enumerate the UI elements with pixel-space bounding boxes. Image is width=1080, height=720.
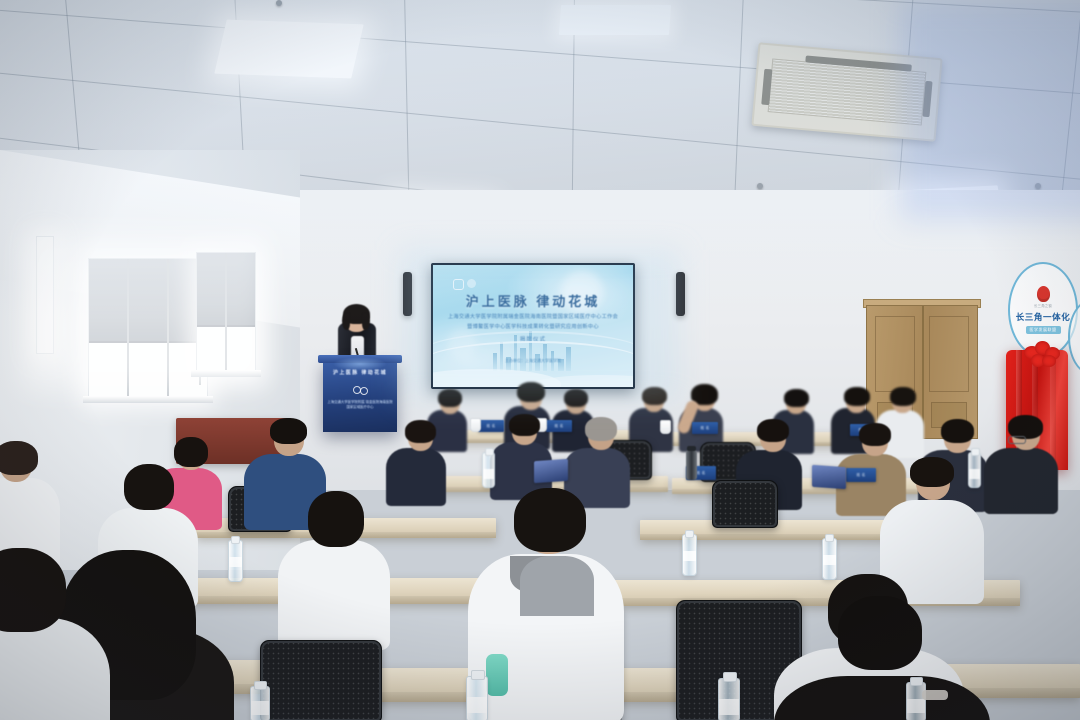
- red-torch-emblem-icon: [1037, 286, 1050, 302]
- projection-screen: 沪上医脉 律动花城 上海交通大学医学院附属瑞金医院海南医院暨国家区域医疗中心工作…: [431, 263, 635, 389]
- wall-mounted-column-speaker: [403, 272, 412, 316]
- fire-sprinkler-head: [276, 0, 282, 6]
- recessed-led-panel: [559, 5, 671, 35]
- fire-sprinkler-head: [1035, 183, 1041, 189]
- presentation-slide: 沪上医脉 律动花城 上海交通大学医学院附属瑞金医院海南医院暨国家区域医疗中心工作…: [433, 265, 633, 387]
- window-mullion: [167, 259, 169, 399]
- window-bay: [88, 258, 208, 400]
- name-placard: 姓 名: [846, 468, 876, 482]
- window-mullion: [225, 253, 227, 373]
- water-bottle: [250, 686, 270, 720]
- window-mullion: [127, 259, 129, 399]
- water-bottle: [482, 452, 495, 488]
- recessed-led-panel: [214, 20, 363, 79]
- speaker-podium: 沪上医脉 律动花城 上海交通大学医学院附属 瑞金医院海南医院 国家区域医疗中心: [323, 360, 397, 432]
- slide-badge-icon: [453, 279, 464, 290]
- teal-glove: [486, 654, 508, 696]
- water-bottle: [906, 682, 926, 720]
- slide-subtitle-line-1: 上海交通大学医学院附属瑞金医院海南医院暨国家区域医疗中心工作会: [441, 313, 625, 321]
- slide-dot-icon: [467, 279, 476, 288]
- slide-wave-line: [431, 331, 635, 375]
- vacuum-flask: [686, 450, 697, 480]
- water-bottle: [718, 678, 740, 720]
- eyeglasses-icon: [1008, 436, 1026, 444]
- red-ribbon-flower: [1022, 340, 1062, 370]
- podium-subtext: 上海交通大学医学院附属 瑞金医院海南医院 国家区域医疗中心: [327, 400, 393, 410]
- door-panel: [929, 316, 969, 392]
- wristwatch: [922, 690, 948, 700]
- podium-logo-icon: [353, 386, 367, 395]
- water-bottle: [466, 676, 488, 720]
- paper-cup: [470, 418, 481, 432]
- name-placard: 姓 名: [692, 422, 718, 434]
- window-sill: [83, 396, 213, 403]
- window-light-slot: [36, 236, 54, 354]
- wall-graphic-title: 长三角一体化: [1016, 311, 1071, 323]
- wall-graphic-tag: 医学发展联盟: [1026, 326, 1061, 334]
- door-panel: [875, 316, 915, 392]
- desk-tablet-screen[interactable]: [812, 465, 846, 489]
- wall-graphic-caption: 长三角之窗: [1034, 303, 1052, 308]
- office-chair[interactable]: [712, 480, 778, 528]
- desk-tablet-screen[interactable]: [534, 459, 568, 483]
- wall-mounted-column-speaker: [676, 272, 685, 316]
- water-bottle: [228, 540, 243, 582]
- water-bottle: [682, 534, 697, 576]
- presenter-hair: [342, 313, 350, 330]
- grey-roller-blind: [89, 259, 207, 343]
- name-placard: 姓 名: [478, 420, 504, 432]
- office-chair[interactable]: [260, 640, 382, 720]
- name-placard: 姓 名: [546, 420, 572, 432]
- paper-cup: [660, 420, 671, 434]
- window-bay: [196, 252, 256, 374]
- ceiling-cassette-air-conditioner: [751, 42, 942, 141]
- fire-sprinkler-head: [757, 183, 763, 189]
- water-bottle: [822, 538, 837, 580]
- podium-banner-title: 沪上医脉 律动花城: [326, 369, 394, 376]
- slide-title: 沪上医脉 律动花城: [433, 291, 633, 310]
- water-bottle: [968, 452, 981, 488]
- conference-room-photo: 沪上医脉 律动花城 上海交通大学医学院附属瑞金医院海南医院暨国家区域医疗中心工作…: [0, 0, 1080, 720]
- window-sill: [191, 370, 261, 377]
